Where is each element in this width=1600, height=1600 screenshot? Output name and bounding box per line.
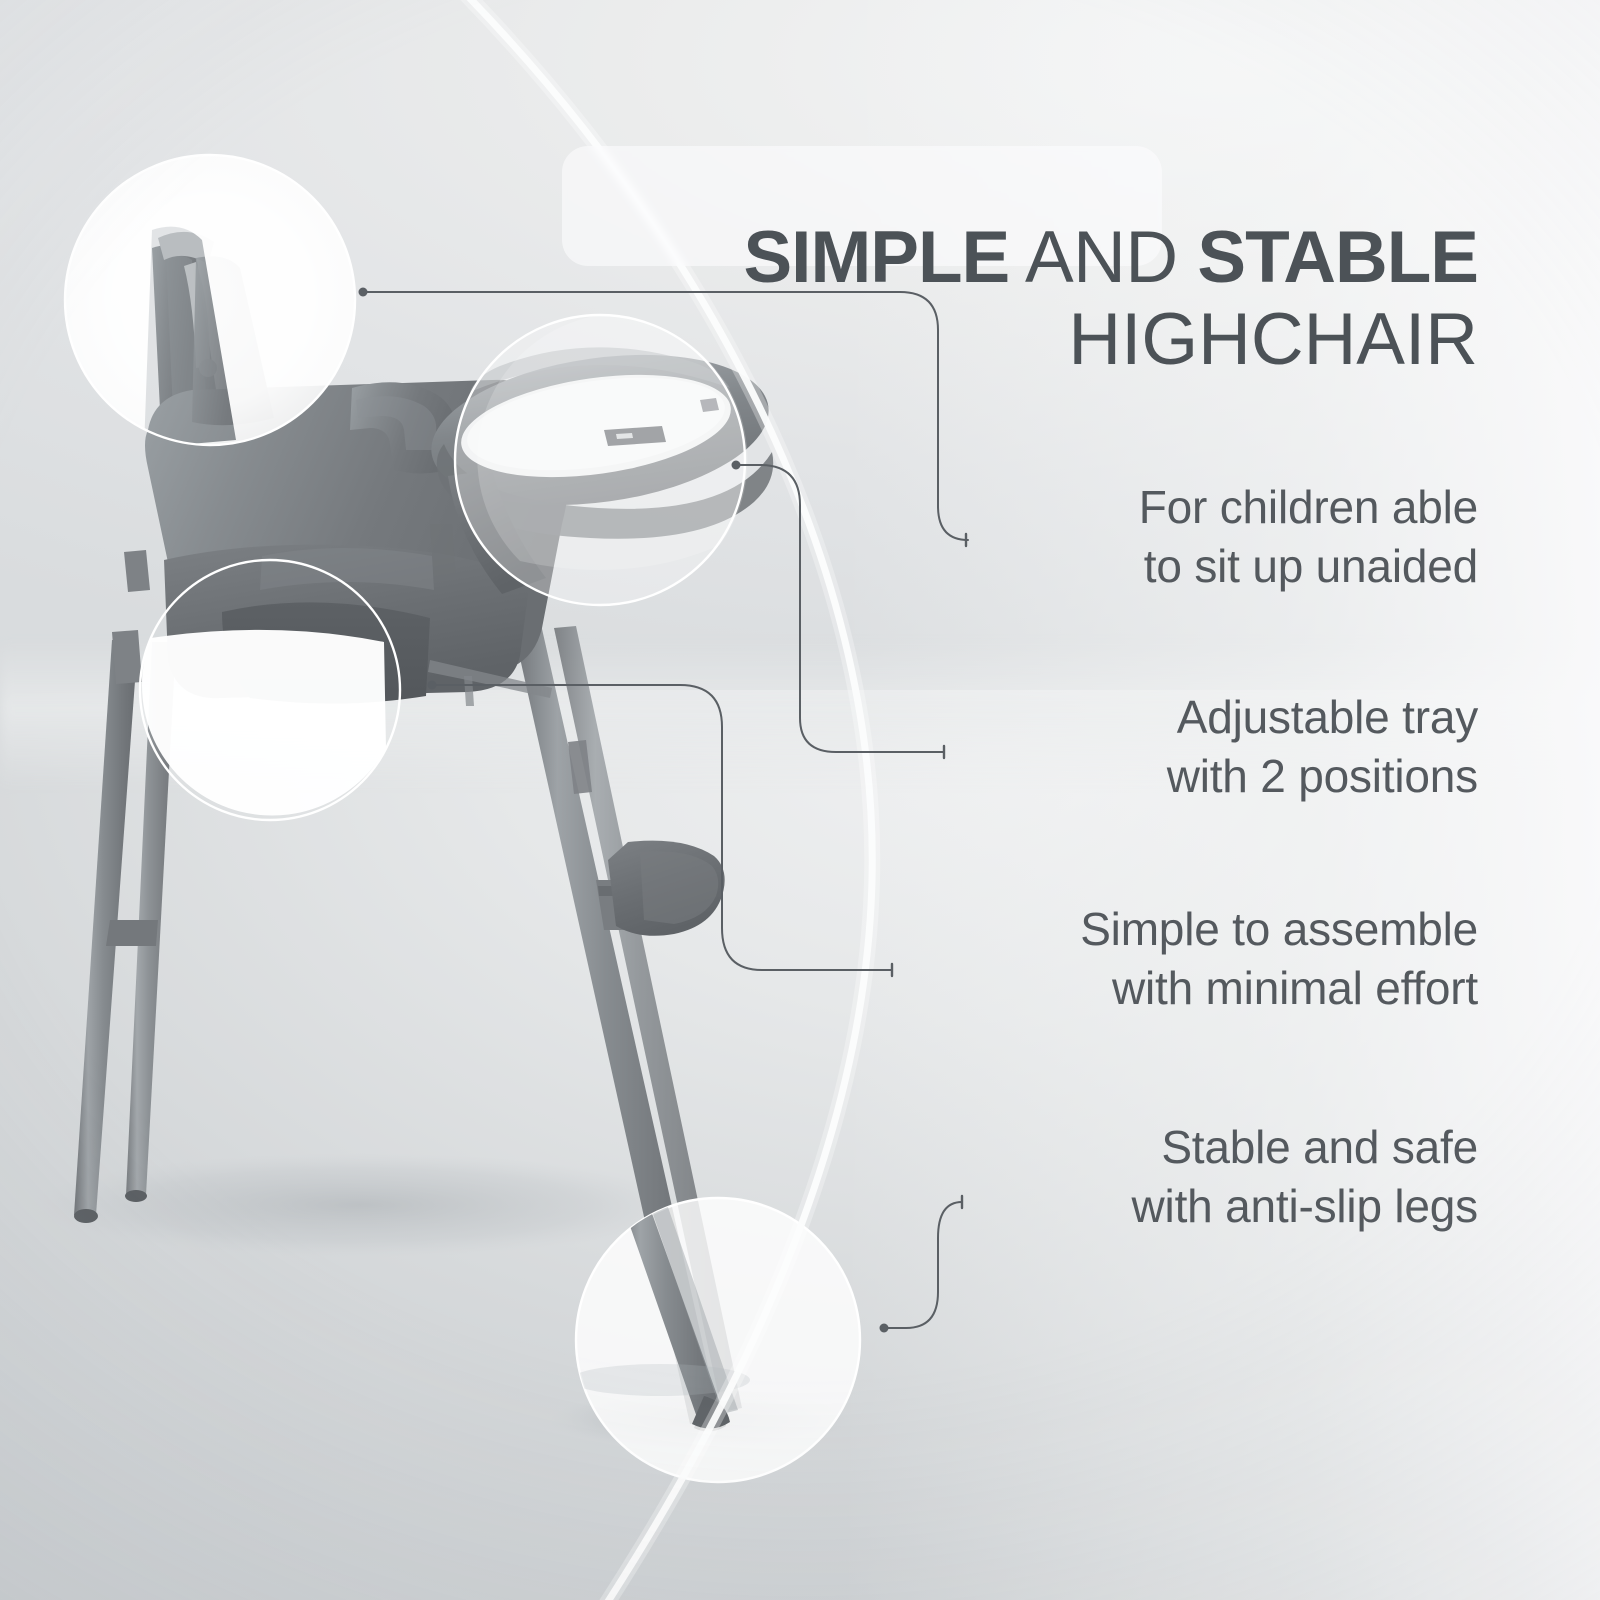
background-vignette <box>0 0 1600 1600</box>
infographic-canvas: SIMPLE AND STABLE HIGHCHAIR For children… <box>0 0 1600 1600</box>
